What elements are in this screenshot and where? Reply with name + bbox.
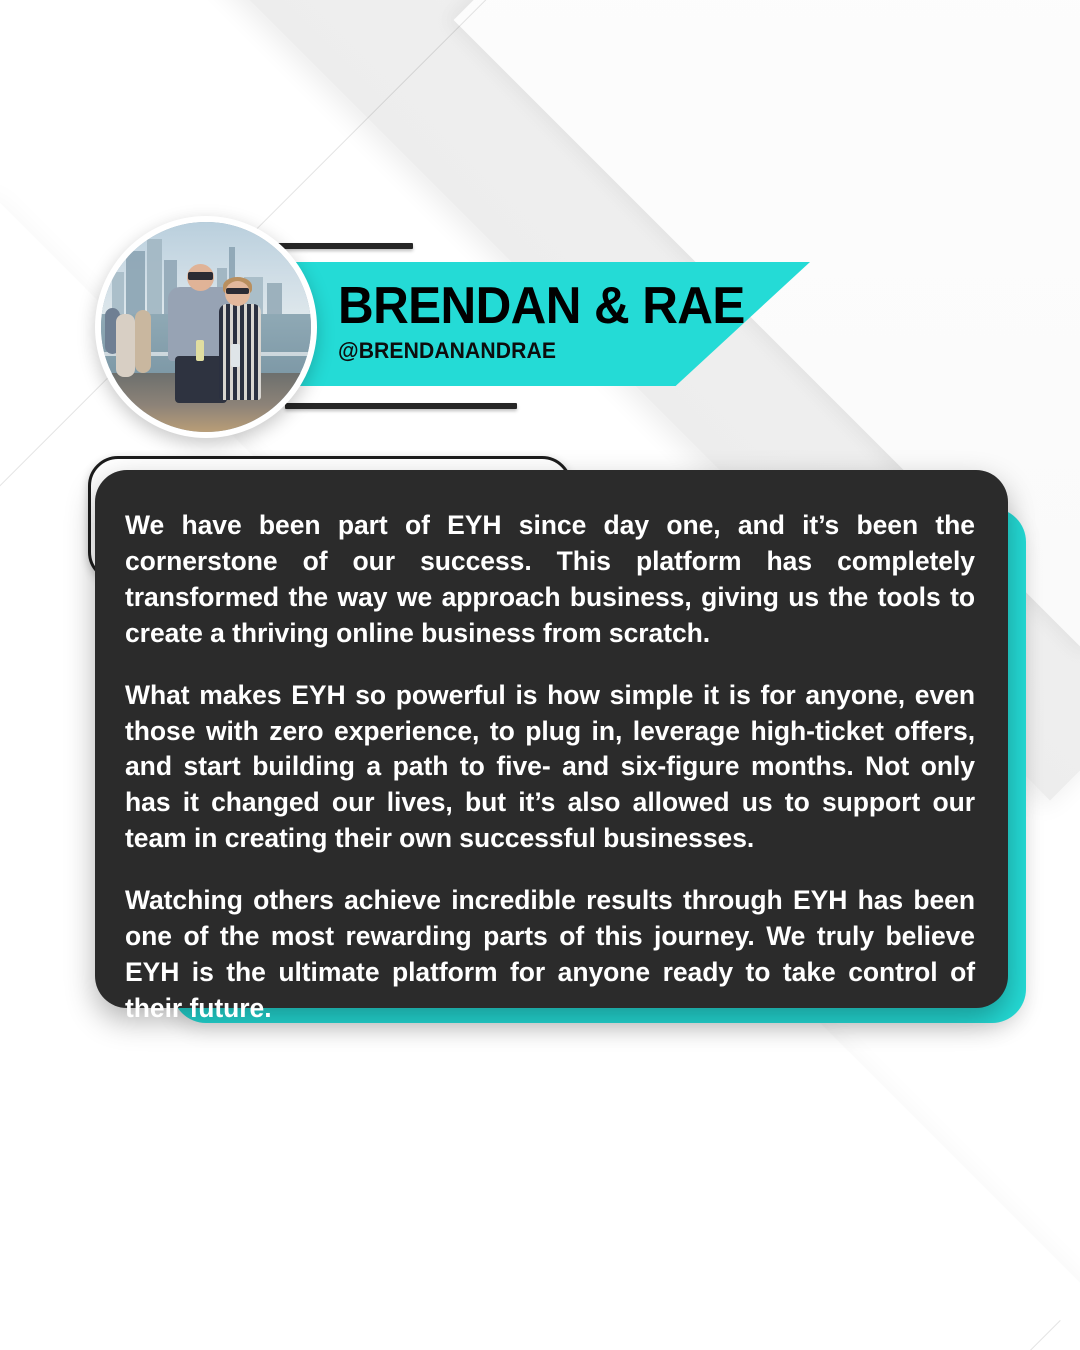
photo-drink-glass (196, 340, 204, 361)
avatar (95, 216, 317, 438)
skyline-building (147, 239, 162, 321)
name-banner-content: BRENDAN & RAE @BRENDANANDRAE (338, 280, 766, 362)
profile-handle: @BRENDANANDRAE (338, 340, 749, 362)
testimonial-paragraph: Watching others achieve incredible resul… (125, 883, 975, 1027)
testimonial-paragraph: What makes EYH so powerful is how simple… (125, 678, 975, 858)
testimonial-graphic: MOMENTUM MOMENTUM BRENDAN & RAE @BRENDAN… (0, 0, 1080, 1350)
sunglasses-icon (226, 288, 249, 294)
decorative-rule-bottom (285, 403, 517, 409)
testimonial-paragraph: We have been part of EYH since day one, … (125, 508, 975, 652)
photo-background-person (116, 314, 135, 377)
photo-drink-glass (231, 344, 239, 367)
sunglasses-icon (188, 272, 213, 279)
photo-person-woman-body (219, 304, 261, 401)
testimonial-card: We have been part of EYH since day one, … (95, 470, 1008, 1008)
profile-name: BRENDAN & RAE (338, 280, 745, 332)
photo-background-person (135, 310, 152, 373)
avatar-photo (101, 222, 311, 432)
